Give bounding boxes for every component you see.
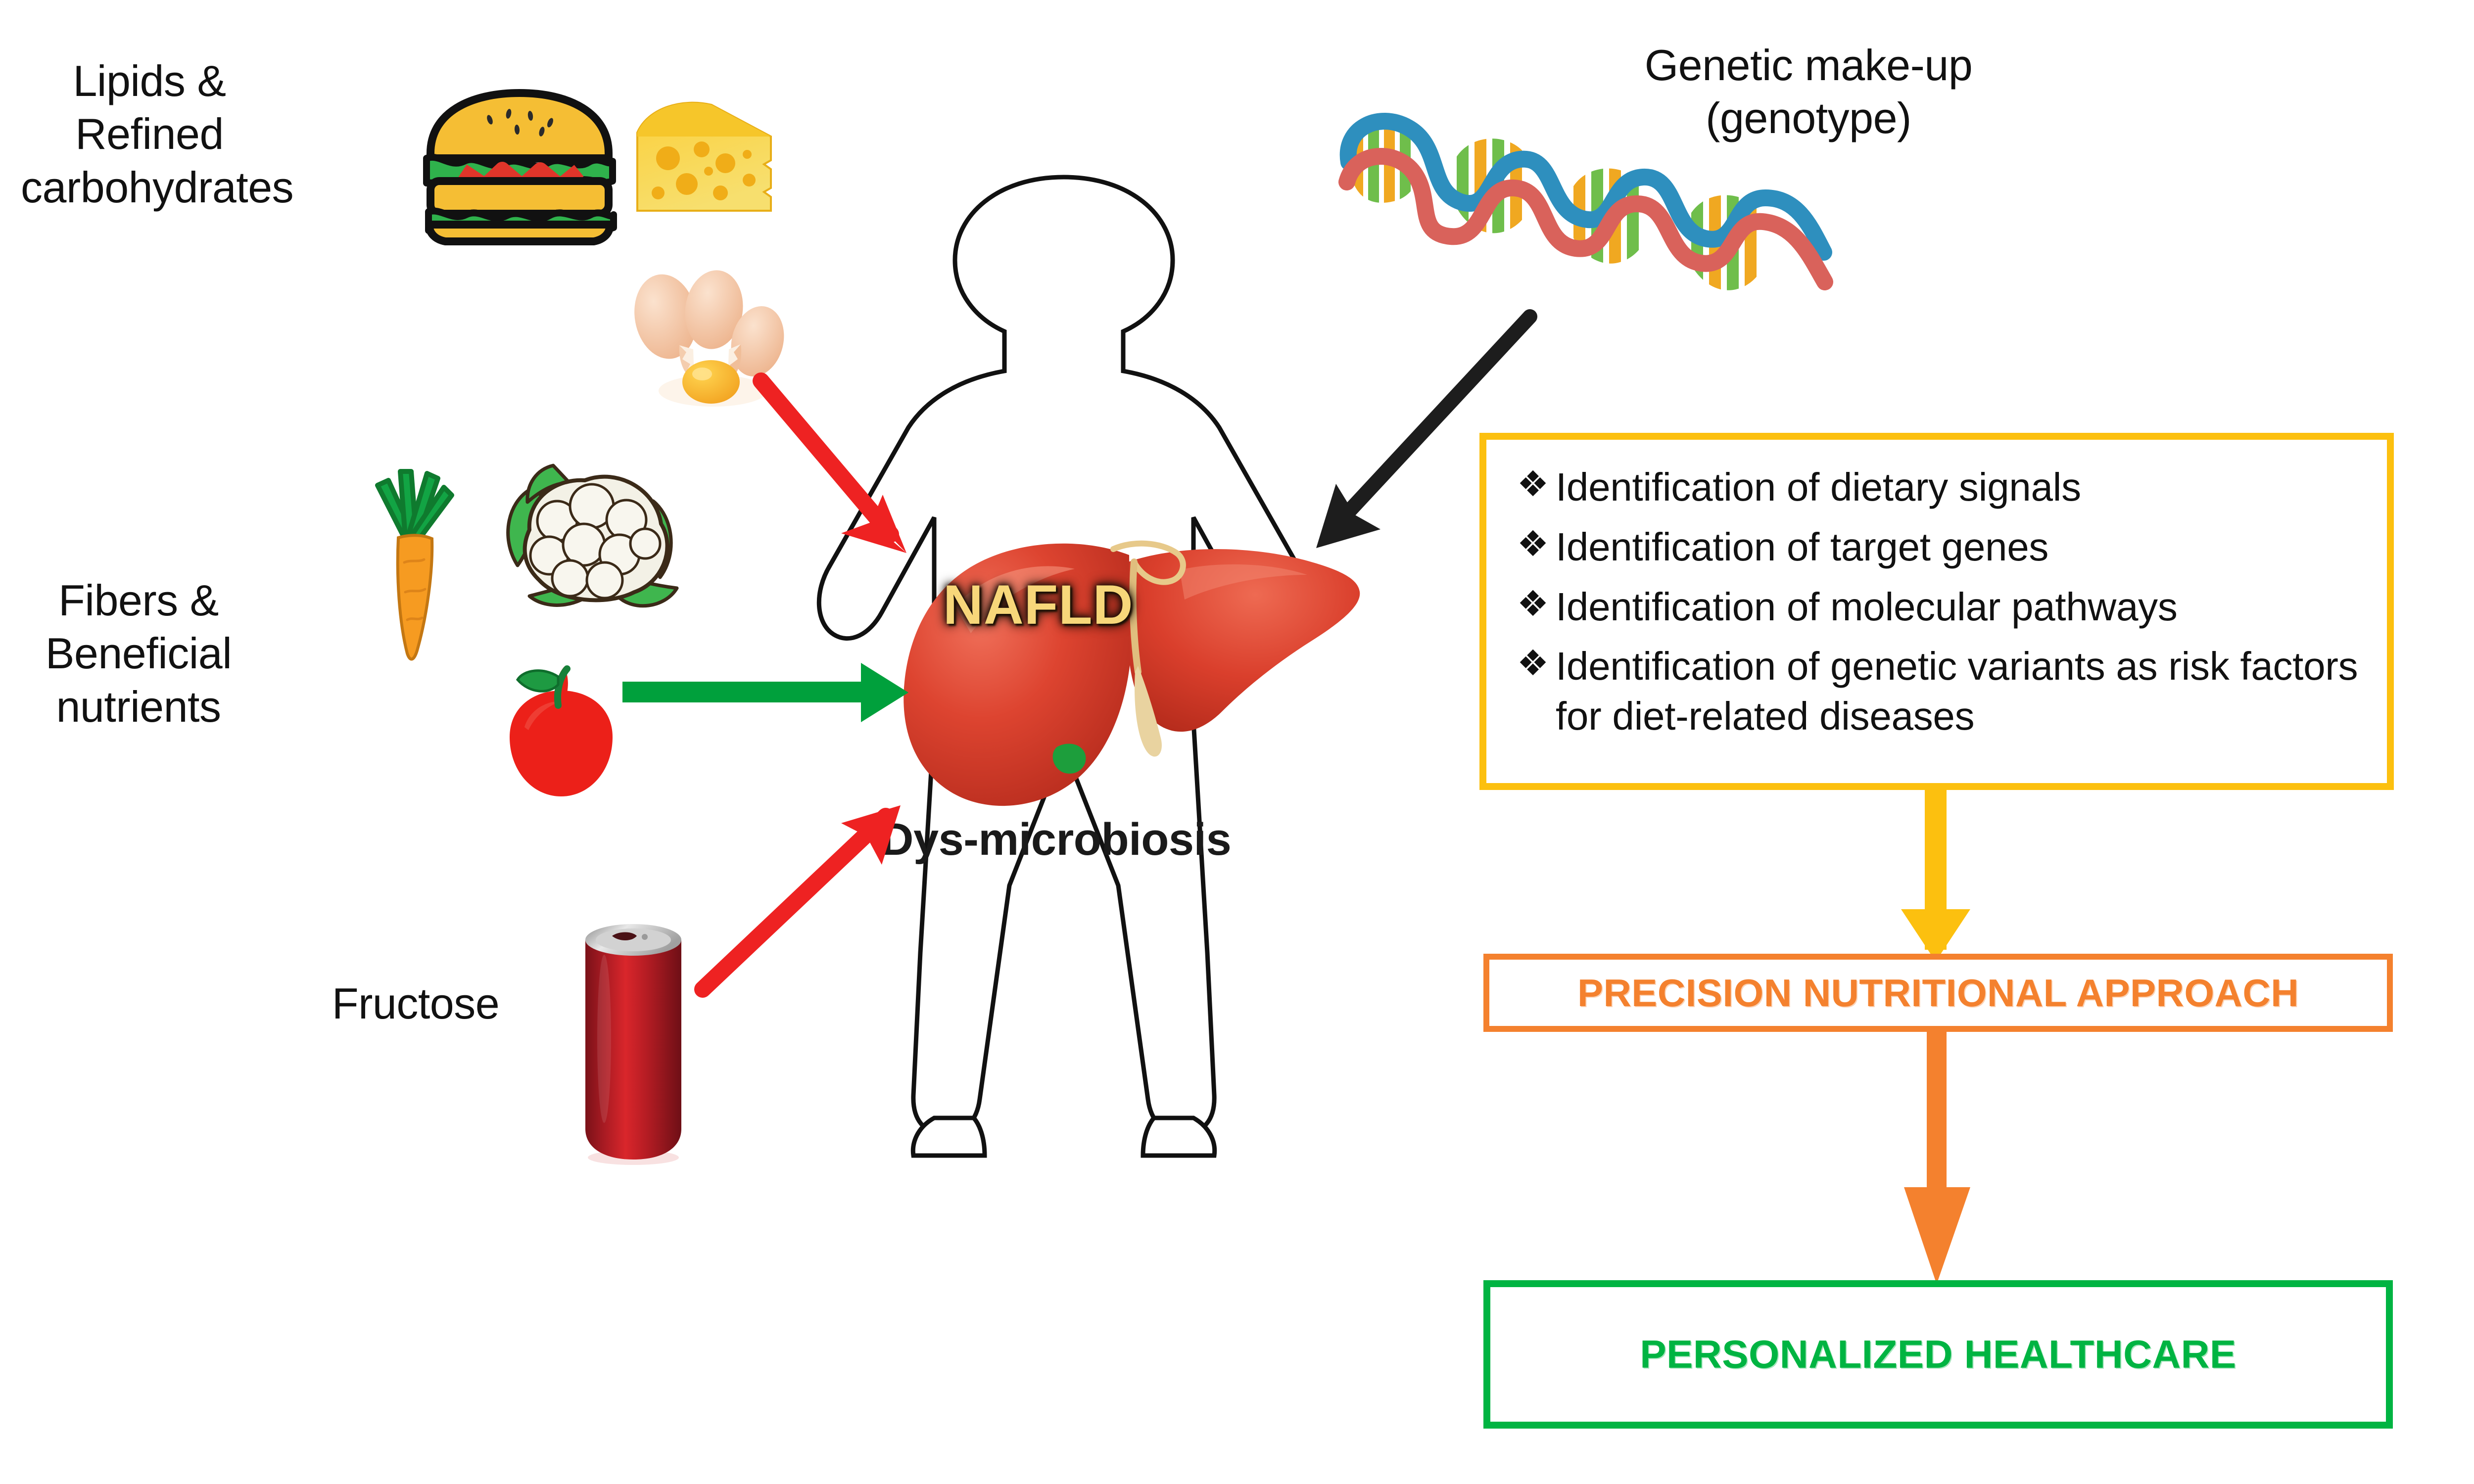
cheese-icon bbox=[628, 94, 777, 228]
label-line: nutrients bbox=[30, 680, 247, 733]
label-line: Refined bbox=[21, 107, 278, 160]
dna-helix-icon bbox=[1336, 104, 1851, 331]
list-item-label: Identification of target genes bbox=[1556, 522, 2048, 572]
diamond-bullet-icon: ❖ bbox=[1510, 642, 1556, 681]
carrot-icon bbox=[369, 453, 463, 680]
arrow-precision-to-personalized bbox=[1904, 1029, 1970, 1284]
list-item: ❖ Identification of dietary signals bbox=[1510, 463, 2372, 512]
label-line: Fibers & bbox=[30, 574, 247, 627]
label-line: Lipids & bbox=[21, 54, 278, 107]
dysmicrobiosis-label: Dys-microbiosis bbox=[881, 814, 1231, 866]
nafld-label: NAFLD bbox=[943, 573, 1133, 637]
soda-can-icon bbox=[576, 905, 690, 1167]
liver-icon bbox=[881, 514, 1376, 821]
apple-icon bbox=[495, 648, 628, 801]
list-item: ❖ Identification of target genes bbox=[1510, 522, 2372, 572]
personalized-healthcare-label: PERSONALIZED HEALTHCARE bbox=[1640, 1332, 2236, 1377]
list-item-label: Identification of dietary signals bbox=[1556, 463, 2081, 512]
identification-list-box: ❖ Identification of dietary signals ❖ Id… bbox=[1479, 433, 2394, 790]
precision-nutritional-approach-label: PRECISION NUTRITIONAL APPROACH bbox=[1577, 971, 2299, 1016]
label-fructose: Fructose bbox=[317, 977, 515, 1030]
eggs-icon bbox=[616, 247, 794, 411]
list-item: ❖ Identification of genetic variants as … bbox=[1510, 642, 2372, 742]
label-line: carbohydrates bbox=[21, 161, 278, 214]
label-line: Genetic make-up bbox=[1591, 39, 2026, 92]
arrow-list-to-precision bbox=[1901, 787, 1970, 962]
label-lipids-refined-carbohydrates: Lipids & Refined carbohydrates bbox=[21, 54, 278, 214]
diamond-bullet-icon: ❖ bbox=[1510, 463, 1556, 502]
list-item-label: Identification of molecular pathways bbox=[1556, 582, 2178, 632]
diamond-bullet-icon: ❖ bbox=[1510, 582, 1556, 622]
list-item-label: Identification of genetic variants as ri… bbox=[1556, 642, 2372, 742]
label-line: Beneficial bbox=[30, 627, 247, 680]
list-item: ❖ Identification of molecular pathways bbox=[1510, 582, 2372, 632]
cauliflower-icon bbox=[495, 448, 693, 631]
burger-icon bbox=[416, 84, 623, 247]
personalized-healthcare-box: PERSONALIZED HEALTHCARE bbox=[1483, 1280, 2393, 1429]
diamond-bullet-icon: ❖ bbox=[1510, 522, 1556, 562]
label-fibers-beneficial-nutrients: Fibers & Beneficial nutrients bbox=[30, 574, 247, 733]
precision-nutritional-approach-box: PRECISION NUTRITIONAL APPROACH bbox=[1483, 954, 2393, 1032]
